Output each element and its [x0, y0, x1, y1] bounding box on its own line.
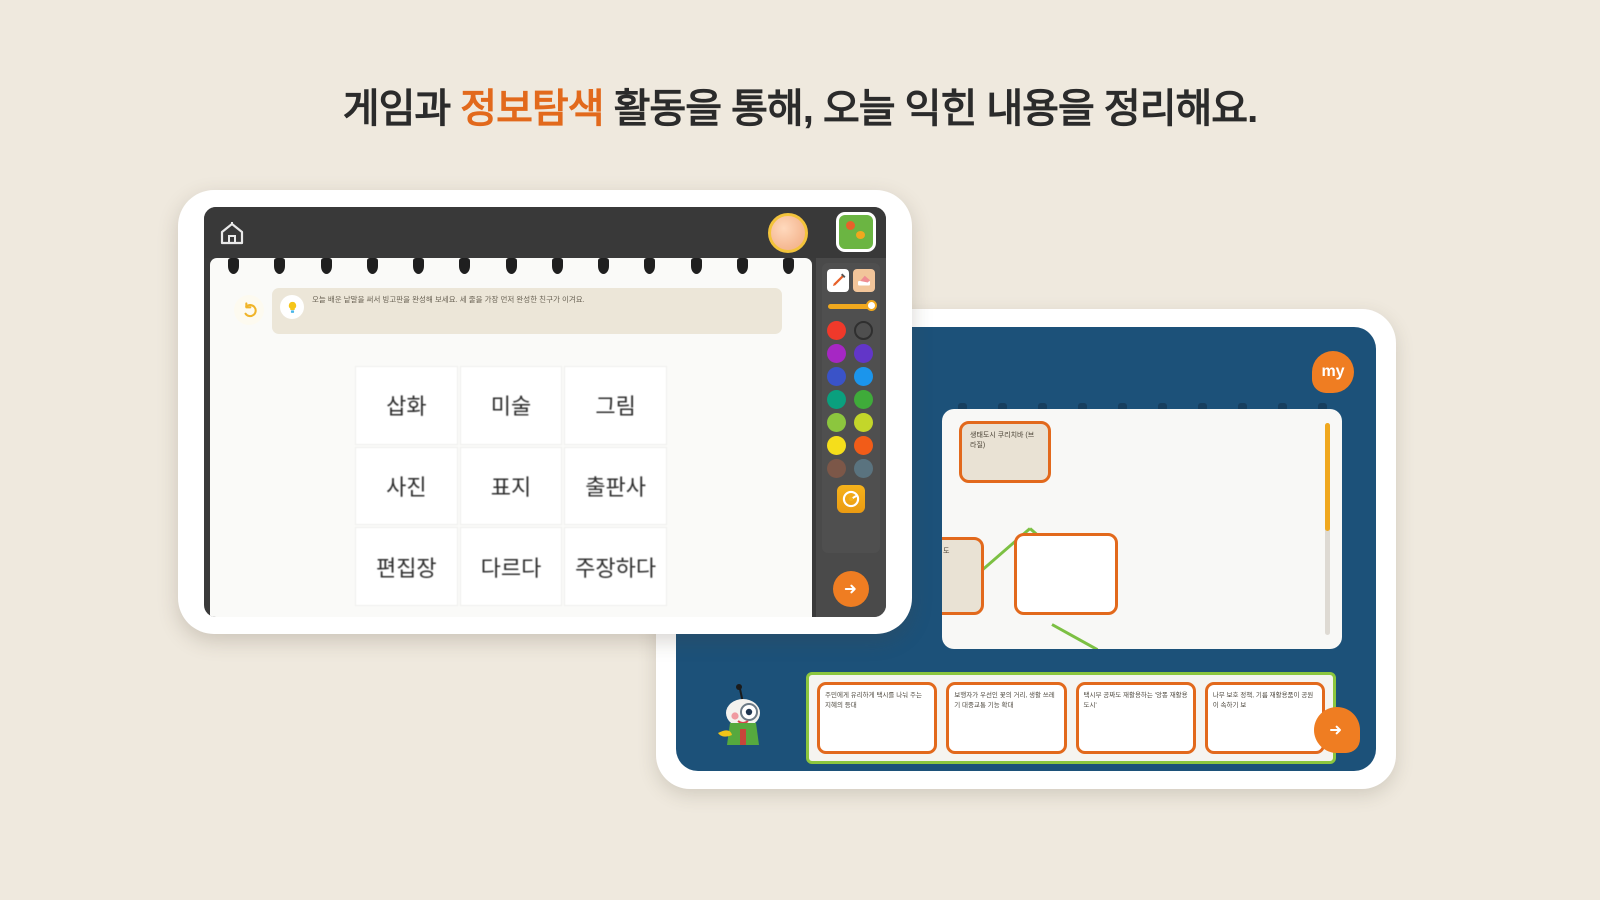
ring — [228, 258, 239, 274]
ring — [691, 258, 702, 274]
board-next-button[interactable] — [1314, 707, 1360, 753]
summary-card[interactable]: 보행자가 우선인 꽃의 거리, 생활 쓰레기 대중교통 기능 확대 — [946, 682, 1066, 754]
bingo-cell[interactable]: 미술 — [460, 366, 563, 445]
bingo-cell[interactable]: 편집장 — [355, 527, 458, 606]
summary-card-strip: 주민에게 유리하게 택시를 나눠 주는 지혜의 등대 보행자가 우선인 꽃의 거… — [806, 672, 1336, 764]
notebook-rings — [228, 258, 794, 276]
color-swatch[interactable] — [827, 321, 846, 340]
color-swatch[interactable] — [854, 459, 873, 478]
summary-card[interactable]: 나무 보호 정책, 기름 재활용품이 공원이 속하기 보 — [1205, 682, 1325, 754]
ring — [552, 258, 563, 274]
tool-panel — [822, 263, 880, 553]
ring — [459, 258, 470, 274]
ring — [367, 258, 378, 274]
bingo-cell[interactable]: 출판사 — [564, 447, 667, 526]
color-swatch[interactable] — [827, 413, 846, 432]
color-swatch[interactable] — [854, 344, 873, 363]
color-swatch[interactable] — [854, 413, 873, 432]
hint-banner: 오늘 배운 낱말을 써서 빙고판을 완성해 보세요. 세 줄을 가장 먼저 완성… — [272, 288, 782, 334]
ring — [644, 258, 655, 274]
eraser-icon[interactable] — [853, 269, 875, 292]
page-title-part1: 게임과 — [343, 87, 461, 131]
ring — [737, 258, 748, 274]
bingo-cell[interactable]: 삽화 — [355, 366, 458, 445]
color-swatch[interactable] — [827, 436, 846, 455]
color-swatch[interactable] — [854, 390, 873, 409]
ring — [506, 258, 517, 274]
mindmap-connector — [1051, 623, 1098, 649]
avatar[interactable] — [768, 213, 808, 253]
scrollbar-thumb[interactable] — [1325, 423, 1330, 531]
mindmap-node-child-1[interactable]: 을 보호 하는 도 — [942, 537, 984, 615]
color-swatch[interactable] — [827, 390, 846, 409]
color-swatch[interactable] — [854, 367, 873, 386]
mindmap-canvas[interactable]: 생태도시 쿠리치바 (브라질) 을 보호 하는 도 — [942, 409, 1342, 649]
screen: 게임과 정보탐색 활동을 통해, 오늘 익힌 내용을 정리해요. my — [0, 0, 1600, 900]
bingo-cell[interactable]: 그림 — [564, 366, 667, 445]
undo-icon[interactable] — [234, 295, 264, 325]
color-swatch[interactable] — [827, 344, 846, 363]
color-palette — [827, 321, 875, 478]
color-swatch[interactable] — [854, 321, 873, 340]
summary-card[interactable]: 주민에게 유리하게 택시를 나눠 주는 지혜의 등대 — [817, 682, 937, 754]
brush-size-slider[interactable] — [828, 301, 874, 311]
mascot-character — [716, 673, 770, 747]
tablet-next-button[interactable] — [833, 571, 869, 607]
bingo-cell[interactable]: 표지 — [460, 447, 563, 526]
tool-row — [827, 269, 875, 292]
color-swatch[interactable] — [854, 436, 873, 455]
ring — [783, 258, 794, 274]
lightbulb-icon — [280, 295, 304, 319]
color-swatch[interactable] — [827, 367, 846, 386]
pen-icon[interactable] — [827, 269, 849, 292]
bingo-page: 오늘 배운 낱말을 써서 빙고판을 완성해 보세요. 세 줄을 가장 먼저 완성… — [210, 258, 812, 617]
bingo-window-body: 오늘 배운 낱말을 써서 빙고판을 완성해 보세요. 세 줄을 가장 먼저 완성… — [204, 207, 886, 617]
bingo-window: 오늘 배운 낱말을 써서 빙고판을 완성해 보세요. 세 줄을 가장 먼저 완성… — [178, 190, 912, 634]
summary-card[interactable]: 택시부 공짜도 재활용하는 '앙퐁 재활용 도시' — [1076, 682, 1196, 754]
ring — [274, 258, 285, 274]
color-swatch[interactable] — [827, 459, 846, 478]
page-title-part2: 활동을 통해, 오늘 익힌 내용을 정리해요. — [604, 87, 1258, 131]
slider-knob[interactable] — [866, 300, 877, 311]
page-title-highlight: 정보탐색 — [460, 87, 603, 131]
tablet-header — [204, 207, 886, 258]
ring — [598, 258, 609, 274]
color-wheel-icon[interactable] — [837, 485, 865, 513]
bingo-cell[interactable]: 다르다 — [460, 527, 563, 606]
ring — [413, 258, 424, 274]
vertical-scrollbar[interactable] — [1325, 423, 1330, 635]
bingo-cell[interactable]: 사진 — [355, 447, 458, 526]
bingo-cell[interactable]: 주장하다 — [564, 527, 667, 606]
my-badge-button[interactable]: my — [1312, 351, 1354, 393]
ring — [321, 258, 332, 274]
app-grid-icon[interactable] — [836, 212, 876, 252]
hint-text: 오늘 배운 낱말을 써서 빙고판을 완성해 보세요. 세 줄을 가장 먼저 완성… — [312, 294, 585, 306]
mindmap-node-root[interactable]: 생태도시 쿠리치바 (브라질) — [959, 421, 1051, 483]
mindmap-node-child-2[interactable] — [1014, 533, 1118, 615]
bingo-grid: 삽화 미술 그림 사진 표지 출판사 편집장 다르다 주장하다 — [355, 366, 667, 606]
home-icon[interactable] — [216, 217, 248, 249]
page-title: 게임과 정보탐색 활동을 통해, 오늘 익힌 내용을 정리해요. — [0, 76, 1600, 134]
drawing-toolbar — [816, 258, 886, 617]
